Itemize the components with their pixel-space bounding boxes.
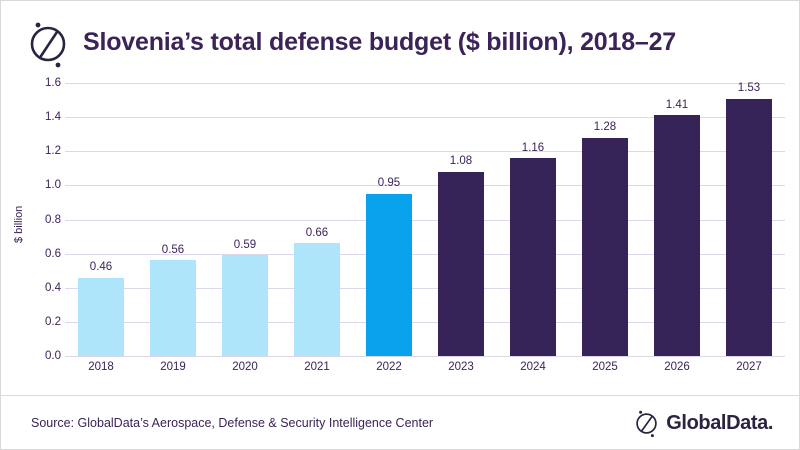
bar-group[interactable]: 0.66	[281, 83, 353, 356]
bar-2018[interactable]	[78, 278, 124, 356]
x-axis-tick: 2023	[425, 361, 497, 373]
x-axis-tick: 2021	[281, 361, 353, 373]
x-axis-tick: 2026	[641, 361, 713, 373]
page-title: Slovenia’s total defense budget ($ billi…	[83, 28, 676, 57]
y-axis-tick: 0.2	[45, 316, 61, 328]
bar-value-label: 0.59	[234, 240, 256, 252]
x-axis-tick: 2027	[713, 361, 785, 373]
x-axis-tick: 2025	[569, 361, 641, 373]
x-axis-tick: 2020	[209, 361, 281, 373]
bar-value-label: 1.16	[522, 143, 544, 155]
bar-group[interactable]: 0.46	[65, 83, 137, 356]
bar-2023[interactable]	[438, 172, 484, 356]
bar-value-label: 1.28	[594, 122, 616, 134]
bar-value-label: 0.46	[90, 262, 112, 274]
bar-value-label: 1.53	[738, 83, 760, 95]
bar-series: 0.460.560.590.660.951.081.161.281.411.53	[65, 83, 785, 356]
x-axis-tick: 2018	[65, 361, 137, 373]
y-axis-tick: 1.6	[45, 77, 61, 89]
bar-value-label: 0.56	[162, 245, 184, 257]
bar-value-label: 0.66	[306, 228, 328, 240]
y-axis-tick-labels: 1.61.41.21.00.80.60.40.20.0	[31, 83, 61, 356]
bar-2022[interactable]	[366, 194, 412, 356]
bar-group[interactable]: 1.08	[425, 83, 497, 356]
bar-group[interactable]: 0.56	[137, 83, 209, 356]
bar-value-label: 1.41	[666, 100, 688, 112]
chart-figure: Slovenia’s total defense budget ($ billi…	[0, 0, 800, 450]
y-axis-tick: 0.8	[45, 214, 61, 226]
bar-group[interactable]: 0.95	[353, 83, 425, 356]
y-axis-tick: 0.0	[45, 350, 61, 362]
y-axis-tick: 1.2	[45, 145, 61, 157]
x-axis-tick: 2022	[353, 361, 425, 373]
y-axis-tick: 0.6	[45, 248, 61, 260]
chart-footer: Source: GlobalData’s Aerospace, Defense …	[1, 396, 800, 450]
bar-2019[interactable]	[150, 260, 196, 356]
bar-value-label: 1.08	[450, 156, 472, 168]
gridline	[65, 356, 785, 357]
x-axis-tick-labels: 2018201920202021202220232024202520262027	[65, 361, 785, 373]
x-axis-tick: 2024	[497, 361, 569, 373]
globaldata-circle-slash-icon	[25, 16, 71, 70]
y-axis-tick: 0.4	[45, 282, 61, 294]
plot-area: $ billion 1.61.41.21.00.80.60.40.20.0 0.…	[1, 83, 800, 386]
bar-value-label: 0.95	[378, 178, 400, 190]
bar-group[interactable]: 1.28	[569, 83, 641, 356]
y-axis-tick: 1.4	[45, 111, 61, 123]
y-axis-tick: 1.0	[45, 179, 61, 191]
bar-2020[interactable]	[222, 255, 268, 356]
bar-2024[interactable]	[510, 158, 556, 356]
chart-header: Slovenia’s total defense budget ($ billi…	[1, 1, 800, 83]
source-note: Source: GlobalData’s Aerospace, Defense …	[31, 416, 433, 430]
bar-2025[interactable]	[582, 138, 628, 356]
y-axis-title: $ billion	[13, 206, 25, 243]
bar-group[interactable]: 1.16	[497, 83, 569, 356]
bar-2027[interactable]	[726, 99, 772, 357]
globaldata-circle-slash-icon	[633, 407, 660, 439]
bar-2021[interactable]	[294, 243, 340, 356]
bar-2026[interactable]	[654, 115, 700, 356]
bar-group[interactable]: 0.59	[209, 83, 281, 356]
globaldata-logo-text: GlobalData.	[666, 412, 773, 435]
bar-group[interactable]: 1.53	[713, 83, 785, 356]
bar-group[interactable]: 1.41	[641, 83, 713, 356]
x-axis-tick: 2019	[137, 361, 209, 373]
globaldata-logo: GlobalData.	[633, 407, 773, 439]
